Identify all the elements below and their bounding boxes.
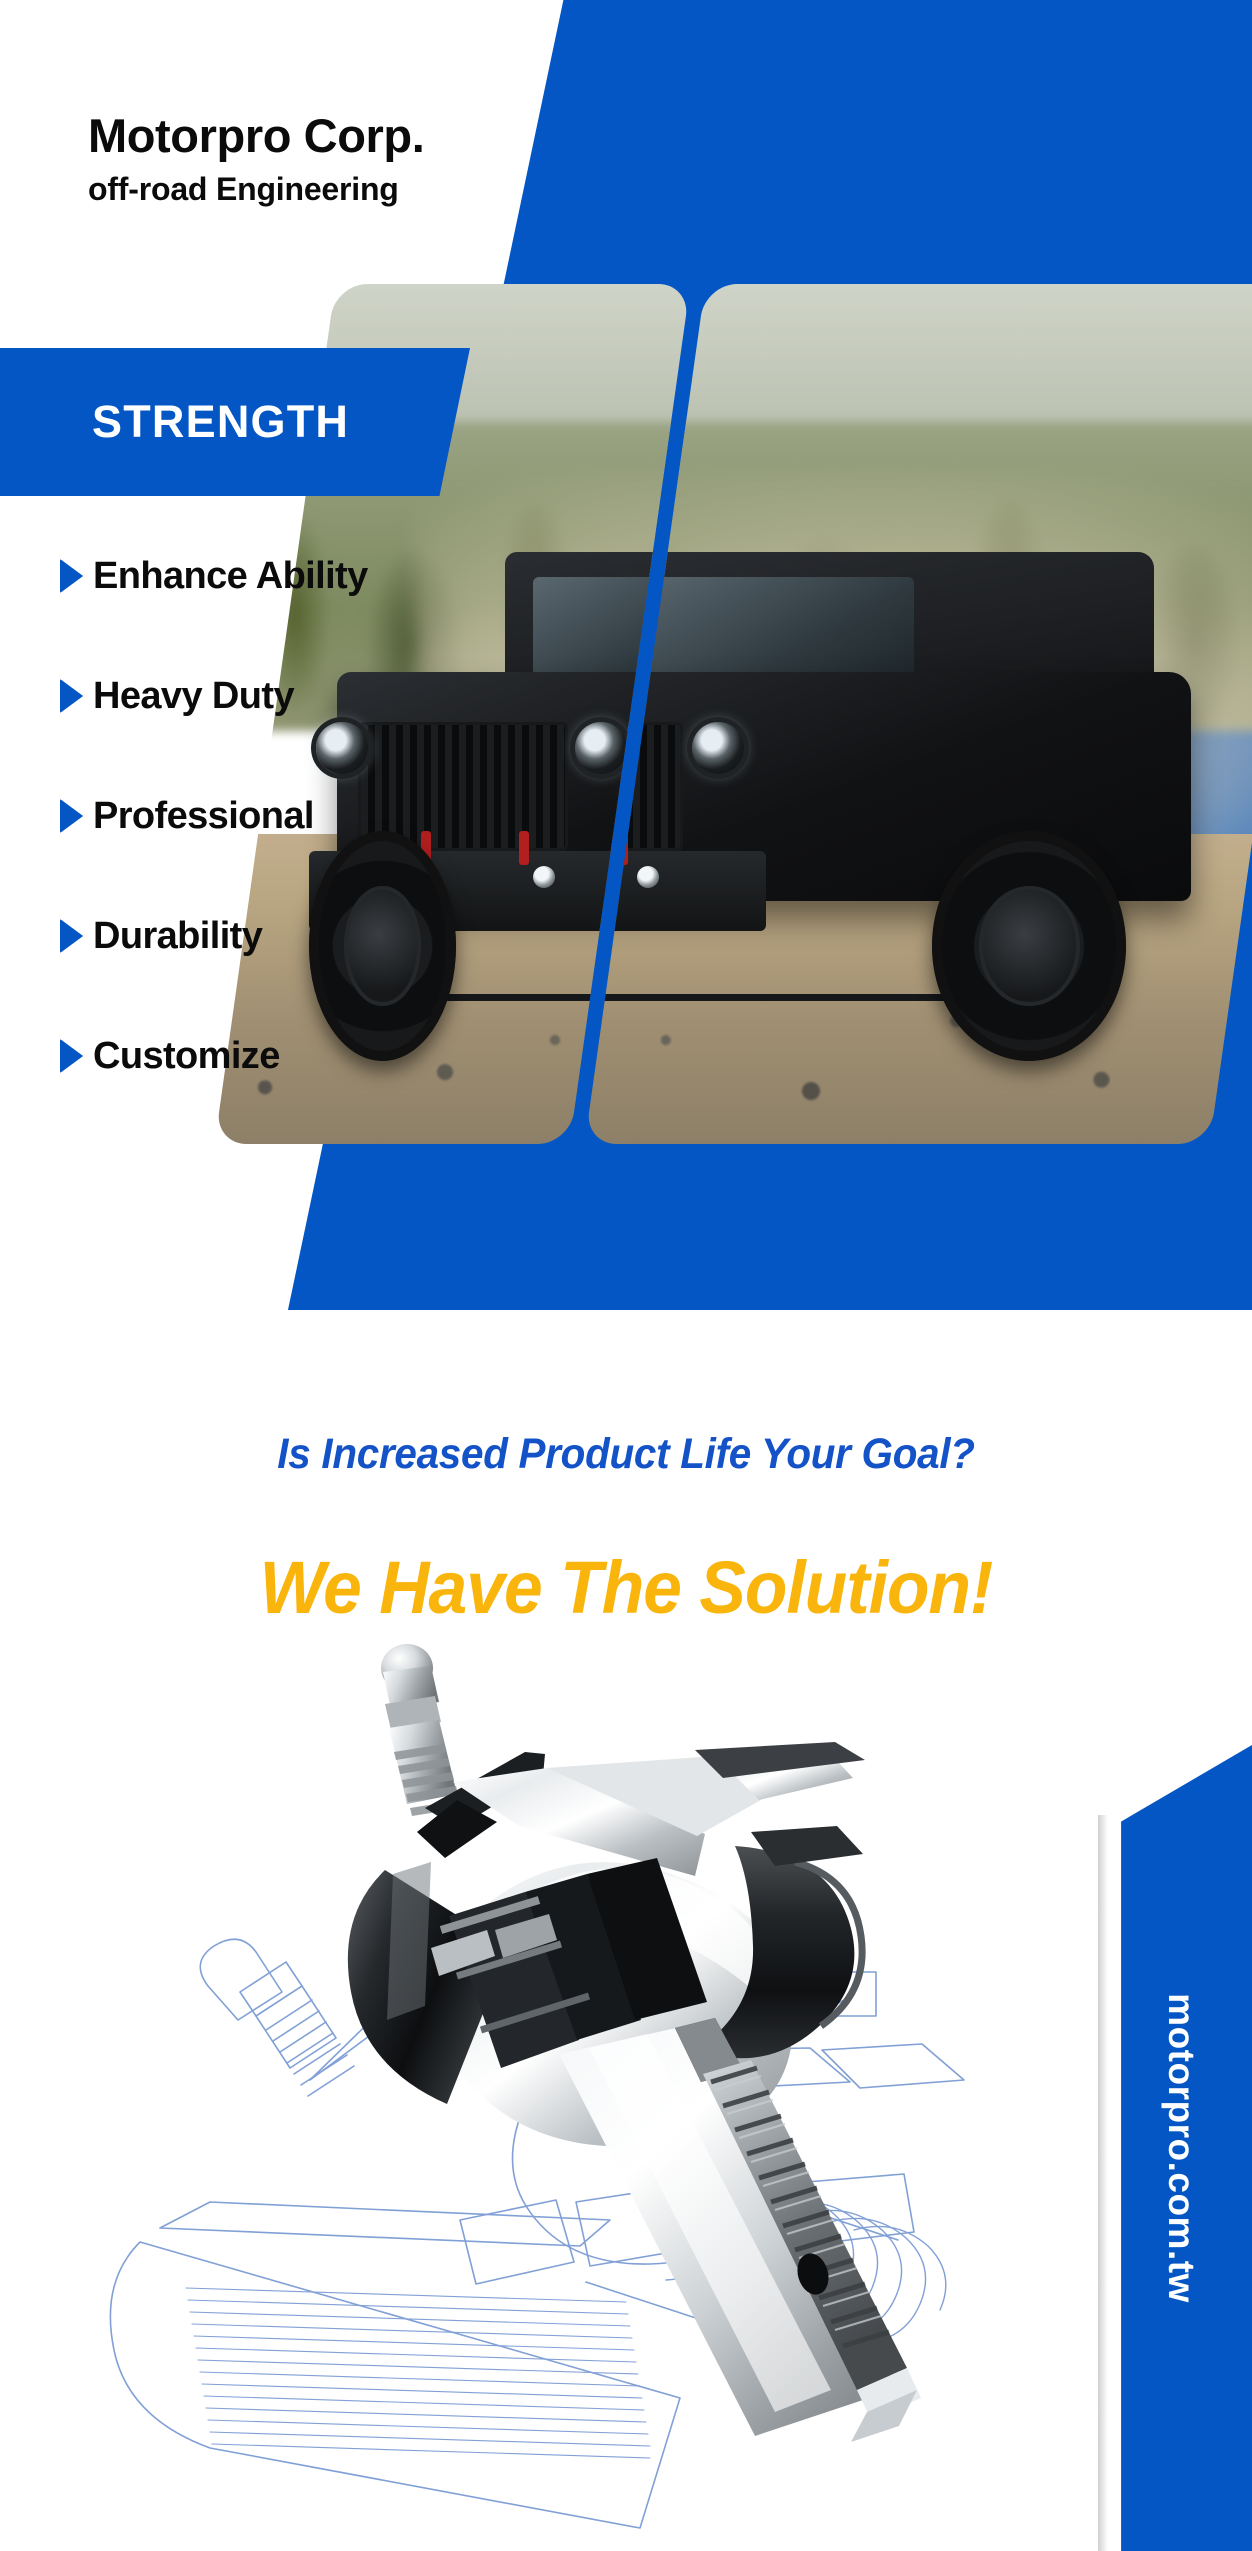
feature-item-durability: Durability xyxy=(60,908,368,964)
headline-question: Is Increased Product Life Your Goal? xyxy=(38,1430,1215,1479)
triangle-right-icon xyxy=(60,919,83,953)
hero-section: Motorpro Corp. off-road Engineering STRE… xyxy=(0,0,1252,1310)
brand-lockup: Motorpro Corp. off-road Engineering xyxy=(88,112,424,205)
triangle-right-icon xyxy=(60,1039,83,1073)
company-tagline: off-road Engineering xyxy=(88,173,424,205)
feature-item-customize: Customize xyxy=(60,1028,368,1084)
feature-label: Durability xyxy=(93,915,262,958)
triangle-right-icon xyxy=(60,559,83,593)
feature-list: Enhance Ability Heavy Duty Professional … xyxy=(60,548,368,1084)
feature-label: Customize xyxy=(93,1035,280,1078)
triangle-right-icon xyxy=(60,679,83,713)
website-url-label: motorpro.com.tw xyxy=(1160,1993,1202,2303)
product-section xyxy=(0,1640,1252,2551)
company-name: Motorpro Corp. xyxy=(88,112,424,159)
feature-item-heavy-duty: Heavy Duty xyxy=(60,668,368,724)
feature-label: Enhance Ability xyxy=(93,555,368,598)
feature-item-enhance-ability: Enhance Ability xyxy=(60,548,368,604)
feature-label: Heavy Duty xyxy=(93,675,294,718)
product-render xyxy=(195,1640,935,2530)
feature-label: Professional xyxy=(93,795,314,838)
strength-badge: STRENGTH xyxy=(0,348,470,496)
strength-badge-label: STRENGTH xyxy=(92,396,349,448)
website-url[interactable]: motorpro.com.tw xyxy=(1082,1745,1252,2551)
headline-answer: We Have The Solution! xyxy=(38,1545,1215,1630)
triangle-right-icon xyxy=(60,799,83,833)
feature-item-professional: Professional xyxy=(60,788,368,844)
